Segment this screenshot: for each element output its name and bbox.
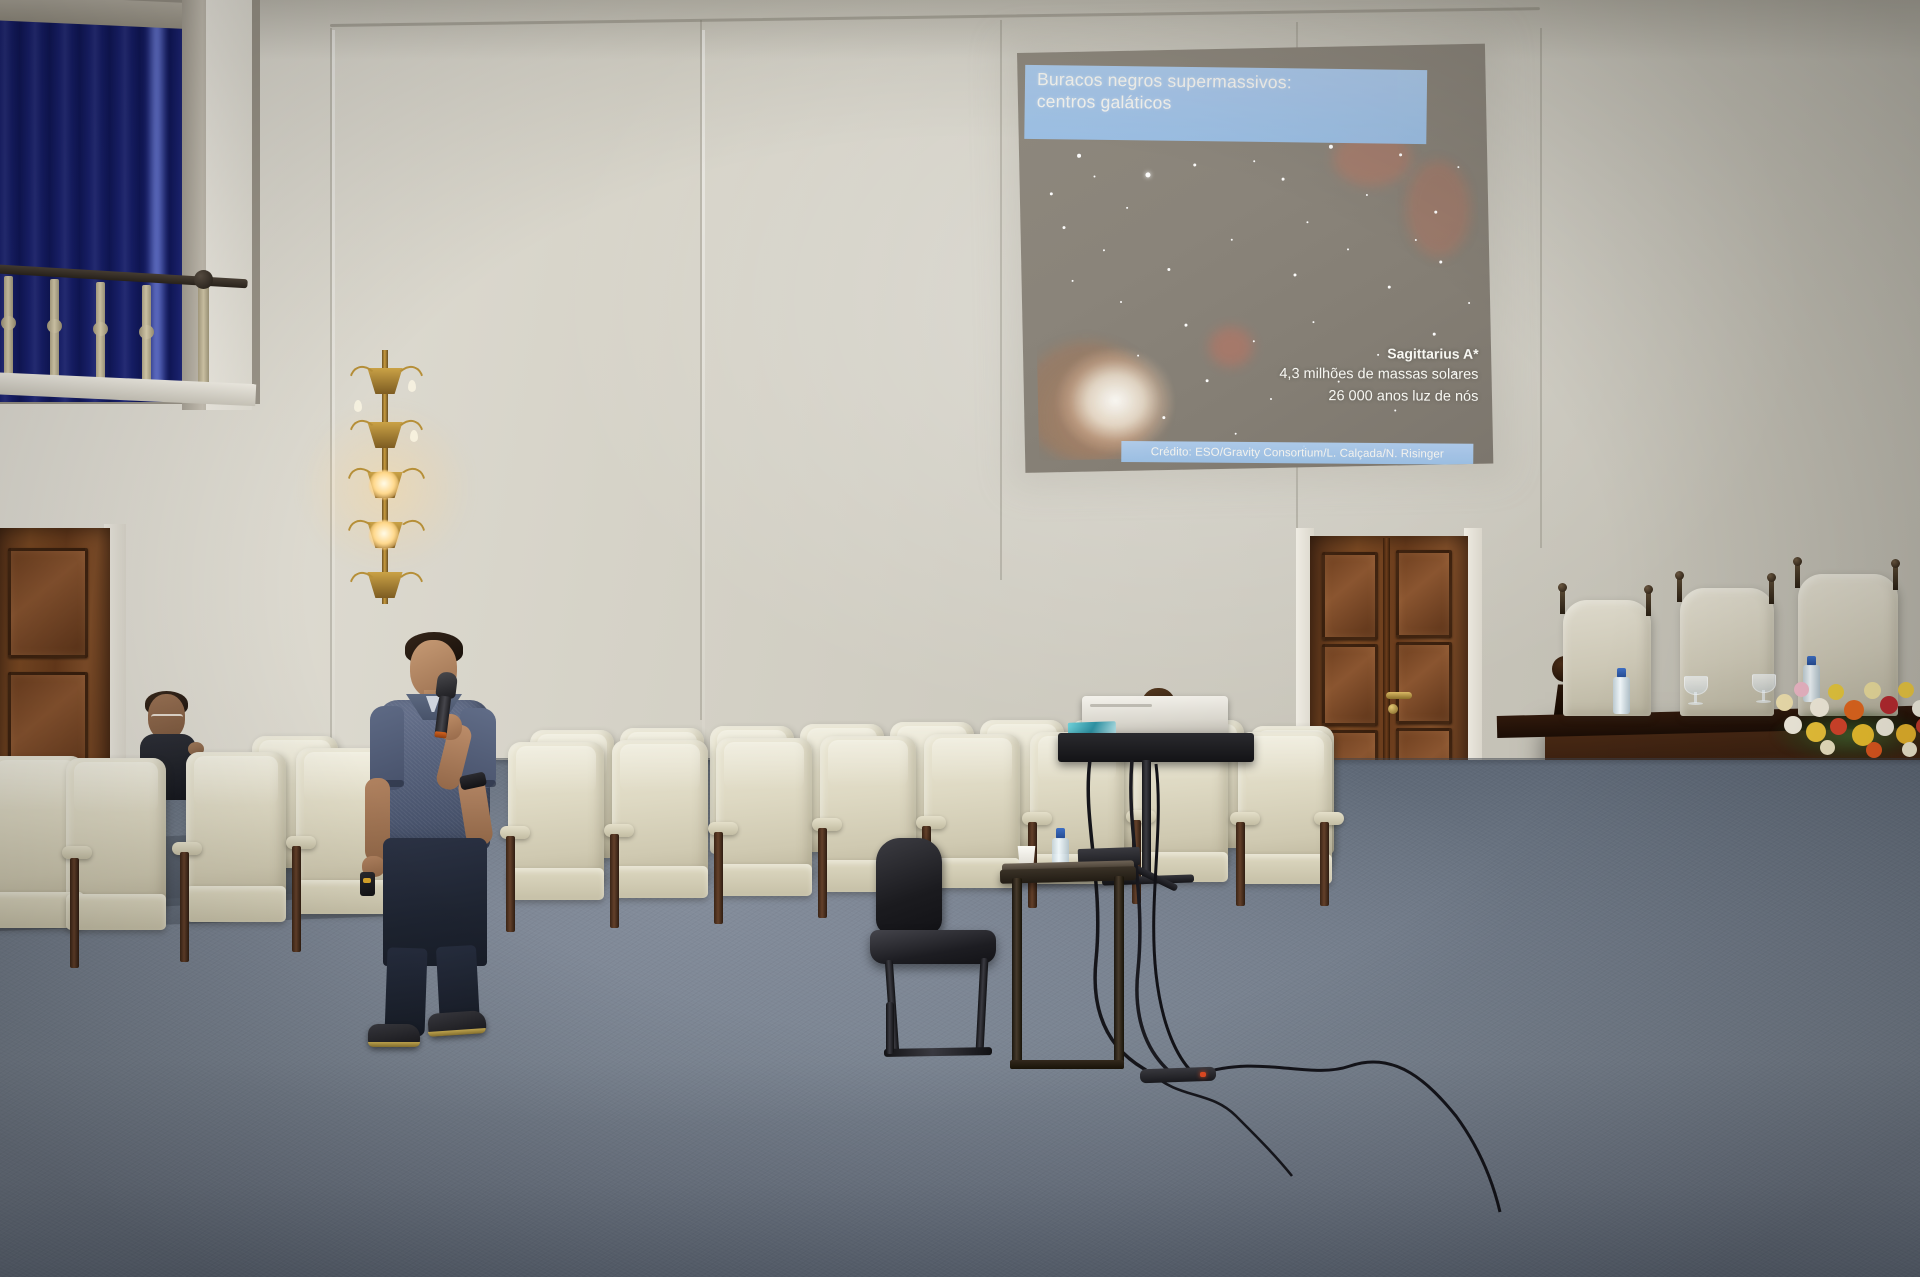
star [1145,172,1150,177]
auditorium-seat [716,738,812,878]
flower [1828,684,1844,700]
glass-foot [1756,700,1771,703]
auditorium-seat [612,740,708,882]
baluster [50,279,59,383]
star [1439,261,1442,264]
flower [1806,722,1826,742]
chair-spire [1560,588,1565,614]
crystal-drop [410,430,418,442]
clicker-led [363,878,371,883]
seat-armrest [1314,812,1344,825]
star [1120,301,1122,303]
crystal-drop [408,380,416,392]
flower [1830,718,1847,735]
seat-base [612,866,708,898]
slide-credit-text: Crédito: ESO/Gravity Consortium/L. Calça… [1151,446,1444,460]
star [1329,145,1333,149]
star [1347,248,1349,250]
star [1293,273,1296,276]
seat-leg [818,828,827,918]
door-handle[interactable] [1386,692,1412,699]
star [1399,153,1402,156]
wall-seam [1000,20,1002,580]
wine-glass [1684,676,1706,706]
right-door-panel-ml [1322,644,1378,726]
projector-vent [1090,704,1152,707]
nebula-red-b [1405,160,1471,257]
chair-spire [1677,576,1682,602]
seat-armrest [916,816,946,829]
seat-backrest-highlight [724,742,805,790]
flower [1844,700,1864,720]
star [1282,178,1285,181]
star [1388,286,1391,289]
star [1193,163,1196,166]
chair-spire [1893,564,1898,590]
chair-spire [1795,562,1800,588]
bottle-body [1613,677,1630,714]
galaxy-image [1033,122,1484,461]
seat-leg [1320,822,1329,906]
side-table-leg [1012,878,1022,1068]
slide-caption-line3: 26 000 anos luz de nós [1279,385,1478,408]
seat-backrest-highlight [516,746,597,794]
star [1312,321,1314,323]
seat-armrest [812,818,842,831]
lecture-hall-photo: Buracos negros supermassivos: centros ga… [0,0,1920,1277]
seat-armrest [286,836,316,849]
star [1415,239,1417,241]
flower [1866,742,1882,758]
seat-backrest-highlight [74,762,158,813]
star [1167,268,1170,271]
slide-caption: Sagittarius A* 4,3 milhões de massas sol… [1279,342,1478,407]
slide-title-line2: centros galáticos [1037,90,1427,117]
crystal-drop [354,400,362,412]
flower [1898,682,1914,698]
seat-leg [292,846,301,952]
star [1137,355,1139,357]
star [1253,160,1255,162]
seat-backrest-highlight [194,756,278,806]
chair-spire [1769,578,1774,604]
star [1077,154,1081,158]
auditorium-seat [66,758,166,908]
glass-foot [1688,702,1703,705]
door-lock-escutcheon [1388,704,1398,714]
projector-cables [1060,760,1260,1080]
sconce-lamp [369,520,399,550]
baluster [4,276,13,380]
star [1468,302,1470,304]
railing-post [198,286,209,390]
slide-title-banner: Buracos negros supermassivos: centros ga… [1024,65,1427,144]
flower [1876,718,1894,736]
flower [1784,716,1802,734]
wall-sconce [338,344,430,608]
projection-screen: Buracos negros supermassivos: centros ga… [1017,44,1493,473]
wall-pilaster [702,30,705,790]
seat-leg [714,832,723,924]
flower [1902,742,1917,757]
star [1457,166,1459,168]
seat-armrest [1022,812,1052,825]
star [1126,207,1128,209]
wall-seam [1540,28,1542,548]
speaker-presenter [350,628,526,1042]
floral-arrangement [1770,648,1920,764]
seat-leg [180,852,189,962]
high-back-chair-1 [1563,600,1651,716]
balcony-railing [0,246,250,382]
baluster [96,282,105,386]
star [1184,324,1187,327]
star [1050,192,1053,195]
star [1394,409,1396,411]
power-indicator-led [1200,1072,1206,1077]
star-cluster-core [1033,305,1220,461]
projector-shelf [1058,733,1254,762]
flower [1820,740,1835,755]
presentation-clicker[interactable] [360,872,375,896]
star [1103,249,1105,251]
star [1253,340,1255,342]
flower [1864,682,1881,699]
seat-base [186,886,286,922]
side-table-leg [1114,876,1124,1068]
star [1270,398,1272,400]
water-bottle [1613,668,1630,714]
star [1093,175,1095,177]
seat-base [716,864,812,896]
flower [1912,700,1920,717]
seat-backrest-highlight [0,760,76,811]
seat-base [66,894,166,930]
flower [1776,694,1793,711]
seat-armrest [604,824,634,837]
star [1072,280,1074,282]
left-door-panel-upper [8,548,88,658]
office-chair-seat[interactable] [870,930,996,964]
seat-leg [70,858,79,968]
microphone-head [435,671,458,699]
star [1062,226,1065,229]
microphone-indicator [434,731,447,738]
star [1231,239,1233,241]
star [1306,221,1308,223]
star [1433,333,1436,336]
flower [1794,682,1809,697]
flower [1810,698,1829,717]
slide-caption-line2: 4,3 milhões de massas solares [1279,363,1478,386]
star [1235,433,1237,435]
baluster [142,285,151,389]
seat-leg [610,834,619,928]
slide-caption-line1: Sagittarius A* [1279,342,1478,364]
right-door-panel-mr [1396,642,1452,724]
sconce-lamp [369,470,399,500]
office-chair-frame-base [886,1002,894,1054]
star [1206,379,1209,382]
seat-backrest-highlight [828,740,909,787]
flower [1916,718,1920,734]
star [1162,416,1165,419]
shoe-sole-trim [368,1042,420,1047]
right-door-panel-tl [1322,552,1378,640]
auditorium-seat [186,752,286,900]
wall-top-shadow [0,0,1920,60]
side-table-stretcher [1010,1060,1124,1069]
flower [1896,724,1916,744]
office-chair-backrest[interactable] [876,838,942,934]
seat-backrest-highlight [932,738,1013,784]
seat-armrest [708,822,738,835]
star [1366,194,1368,196]
star [1434,211,1437,214]
eyeglasses-icon [151,714,183,723]
chair-spire [1646,590,1651,616]
railing-finial [194,270,213,289]
right-door-panel-tr [1396,550,1452,638]
slide-credit-banner: Crédito: ESO/Gravity Consortium/L. Calça… [1121,441,1473,465]
flower [1880,696,1898,714]
seat-backrest-highlight [620,744,701,792]
